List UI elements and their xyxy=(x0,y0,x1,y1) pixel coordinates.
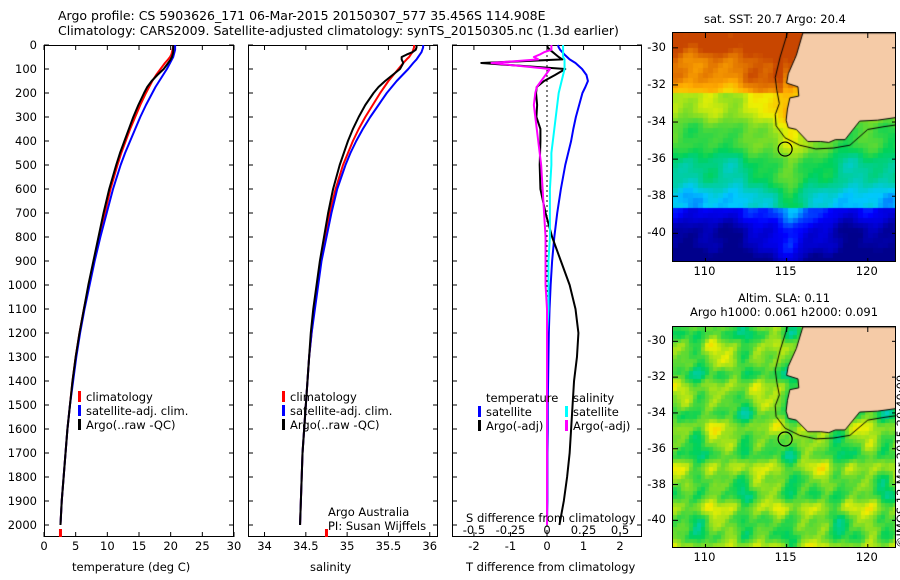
x-tick-label: 0.5 xyxy=(611,523,629,537)
imos-credit-text: ©IMOS 12-Mar-2015 20:40:09 xyxy=(894,375,900,548)
legend-item-satellite-adj: satellite-adj. clim. xyxy=(78,404,188,418)
map-lat-tick-label: -30 xyxy=(647,333,666,347)
map-lat-tick-label: -40 xyxy=(647,512,666,526)
map-lon-tick-label: 115 xyxy=(775,264,797,278)
map-lon-tick-label: 120 xyxy=(856,264,878,278)
legend-item-sal-satellite: satellite xyxy=(565,405,630,419)
legend-item-satellite-adj-s: satellite-adj. clim. xyxy=(282,404,392,418)
salinity-xaxis-title: salinity xyxy=(310,560,351,574)
x-tick-label: 10 xyxy=(100,539,115,553)
depth-tick-label: 700 xyxy=(15,206,37,220)
x-tick-label: 5 xyxy=(72,539,79,553)
depth-tick-label: 1500 xyxy=(8,398,37,412)
map-lat-tick-label: -40 xyxy=(647,225,666,239)
map-lat-tick-label: -38 xyxy=(647,477,666,491)
temperature-xaxis-title: temperature (deg C) xyxy=(72,560,190,574)
temperature-legend: climatology satellite-adj. clim. Argo(..… xyxy=(78,390,188,432)
x-tick-label: 0.25 xyxy=(571,523,597,537)
x-tick-label: -0.5 xyxy=(463,523,485,537)
legend-item-temp-satellite: satellite xyxy=(478,405,558,419)
map-lon-tick-label: 115 xyxy=(775,550,797,564)
depth-tick-label: 1800 xyxy=(8,470,37,484)
title-line-2: Climatology: CARS2009. Satellite-adjuste… xyxy=(58,23,619,38)
depth-tick-label: 1700 xyxy=(8,446,37,460)
imos-credit: ©IMOS 12-Mar-2015 20:40:09 xyxy=(894,548,900,562)
x-tick-label: 0 xyxy=(543,539,550,553)
legend-swatch-sal-satellite xyxy=(565,406,568,417)
x-tick-label: -1 xyxy=(505,539,516,553)
legend-swatch-satellite-adj-s xyxy=(282,405,285,416)
x-tick-label: 0 xyxy=(40,539,47,553)
map-lon-tick-label: 110 xyxy=(693,550,715,564)
sst-map[interactable] xyxy=(672,32,896,262)
x-tick-label: 20 xyxy=(163,539,178,553)
temperature-xaxis-labels: 051015202530 xyxy=(44,539,234,555)
x-tick-label: -2 xyxy=(468,539,479,553)
map-lat-tick-label: -30 xyxy=(647,40,666,54)
sla-map-title: Altim. SLA: 0.11 Argo h1000: 0.061 h2000… xyxy=(672,291,896,319)
legend-item-climatology: climatology xyxy=(78,390,188,404)
legend-header-temperature: temperature xyxy=(478,391,558,405)
title-line-1: Argo profile: CS 5903626_171 06-Mar-2015… xyxy=(58,8,619,23)
difference-xaxis-top-labels: -0.5-0.2500.250.5 xyxy=(452,523,642,537)
legend-item-sal-argo-adj: Argo(-adj) xyxy=(565,419,630,433)
legend-header-salinity: salinity xyxy=(565,391,630,405)
depth-tick-label: 400 xyxy=(15,134,37,148)
depth-tick-label: 300 xyxy=(15,110,37,124)
depth-tick-label: 1100 xyxy=(8,302,37,316)
map-lat-tick-label: -36 xyxy=(647,151,666,165)
x-tick-label: 30 xyxy=(227,539,242,553)
attribution: Argo Australia PI: Susan Wijffels xyxy=(328,505,426,533)
page-title: Argo profile: CS 5903626_171 06-Mar-2015… xyxy=(58,8,619,38)
x-tick-label: 1 xyxy=(580,539,587,553)
temperature-plot xyxy=(44,45,234,537)
attribution-org: Argo Australia xyxy=(328,505,426,519)
depth-tick-label: 0 xyxy=(30,38,37,52)
depth-tick-label: 900 xyxy=(15,254,37,268)
sla-map[interactable] xyxy=(672,326,896,548)
map-lat-tick-label: -34 xyxy=(647,114,666,128)
difference-legend-salinity: salinity satellite Argo(-adj) xyxy=(565,391,630,433)
legend-swatch-climatology xyxy=(78,391,81,402)
legend-swatch-argo-raw xyxy=(78,419,81,430)
legend-item-climatology-s: climatology xyxy=(282,390,392,404)
x-tick-label: 34 xyxy=(257,539,272,553)
sst-map-title: sat. SST: 20.7 Argo: 20.4 xyxy=(704,12,846,26)
difference-xaxis-bottom-labels: -2-1012 xyxy=(452,539,642,555)
sla-map-xaxis-labels: 110115120 xyxy=(672,550,896,564)
depth-tick-label: 1200 xyxy=(8,326,37,340)
x-tick-label: 35 xyxy=(340,539,355,553)
legend-swatch-argo-raw-s xyxy=(282,419,285,430)
depth-tick-label: 1300 xyxy=(8,350,37,364)
x-tick-label: 25 xyxy=(195,539,210,553)
difference-legend-temperature: temperature satellite Argo(-adj) xyxy=(478,391,558,433)
salinity-xaxis-labels: 3434.53535.536 xyxy=(248,539,438,555)
legend-swatch-temp-satellite xyxy=(478,406,481,417)
map-lat-tick-label: -32 xyxy=(647,369,666,383)
sst-map-yaxis-labels: -30-32-34-36-38-40 xyxy=(640,32,670,262)
depth-tick-label: 1000 xyxy=(8,278,37,292)
depth-tick-label: 1600 xyxy=(8,422,37,436)
legend-swatch-sal-argo-adj xyxy=(565,420,568,431)
depth-tick-label: 100 xyxy=(15,62,37,76)
legend-swatch-satellite-adj xyxy=(78,405,81,416)
sla-map-yaxis-labels: -30-32-34-36-38-40 xyxy=(640,326,670,548)
legend-swatch-temp-argo-adj xyxy=(478,420,481,431)
x-tick-label: -0.25 xyxy=(496,523,526,537)
map-lon-tick-label: 120 xyxy=(856,550,878,564)
sst-map-xaxis-labels: 110115120 xyxy=(672,264,896,278)
x-tick-label: 2 xyxy=(616,539,623,553)
depth-tick-label: 600 xyxy=(15,182,37,196)
legend-item-argo-raw-s: Argo(..raw -QC) xyxy=(282,418,392,432)
depth-tick-label: 1900 xyxy=(8,494,37,508)
legend-item-argo-raw: Argo(..raw -QC) xyxy=(78,418,188,432)
sla-map-title-line1: Altim. SLA: 0.11 xyxy=(672,291,896,305)
map-lat-tick-label: -38 xyxy=(647,188,666,202)
attribution-pi: PI: Susan Wijffels xyxy=(328,519,426,533)
map-lat-tick-label: -32 xyxy=(647,77,666,91)
depth-tick-label: 500 xyxy=(15,158,37,172)
depth-tick-label: 800 xyxy=(15,230,37,244)
salinity-plot xyxy=(248,45,438,537)
legend-swatch-climatology-s xyxy=(282,391,285,402)
map-lon-tick-label: 110 xyxy=(693,264,715,278)
temperature-yaxis-labels: 0100200300400500600700800900100011001200… xyxy=(0,45,42,537)
depth-tick-label: 2000 xyxy=(8,518,37,532)
depth-tick-label: 1400 xyxy=(8,374,37,388)
map-lat-tick-label: -34 xyxy=(647,405,666,419)
map-lat-tick-label: -36 xyxy=(647,441,666,455)
x-tick-label: 0 xyxy=(543,523,550,537)
difference-xaxis-top-title: S difference from climatology xyxy=(466,511,636,525)
x-tick-label: 15 xyxy=(132,539,147,553)
salinity-legend: climatology satellite-adj. clim. Argo(..… xyxy=(282,390,392,432)
legend-item-temp-argo-adj: Argo(-adj) xyxy=(478,419,558,433)
difference-xaxis-bottom-title: T difference from climatology xyxy=(466,560,635,574)
x-tick-label: 34.5 xyxy=(293,539,319,553)
depth-tick-label: 200 xyxy=(15,86,37,100)
x-tick-label: 35.5 xyxy=(376,539,402,553)
x-tick-label: 36 xyxy=(422,539,437,553)
sla-map-title-line2: Argo h1000: 0.061 h2000: 0.091 xyxy=(672,305,896,319)
difference-plot xyxy=(452,45,642,537)
